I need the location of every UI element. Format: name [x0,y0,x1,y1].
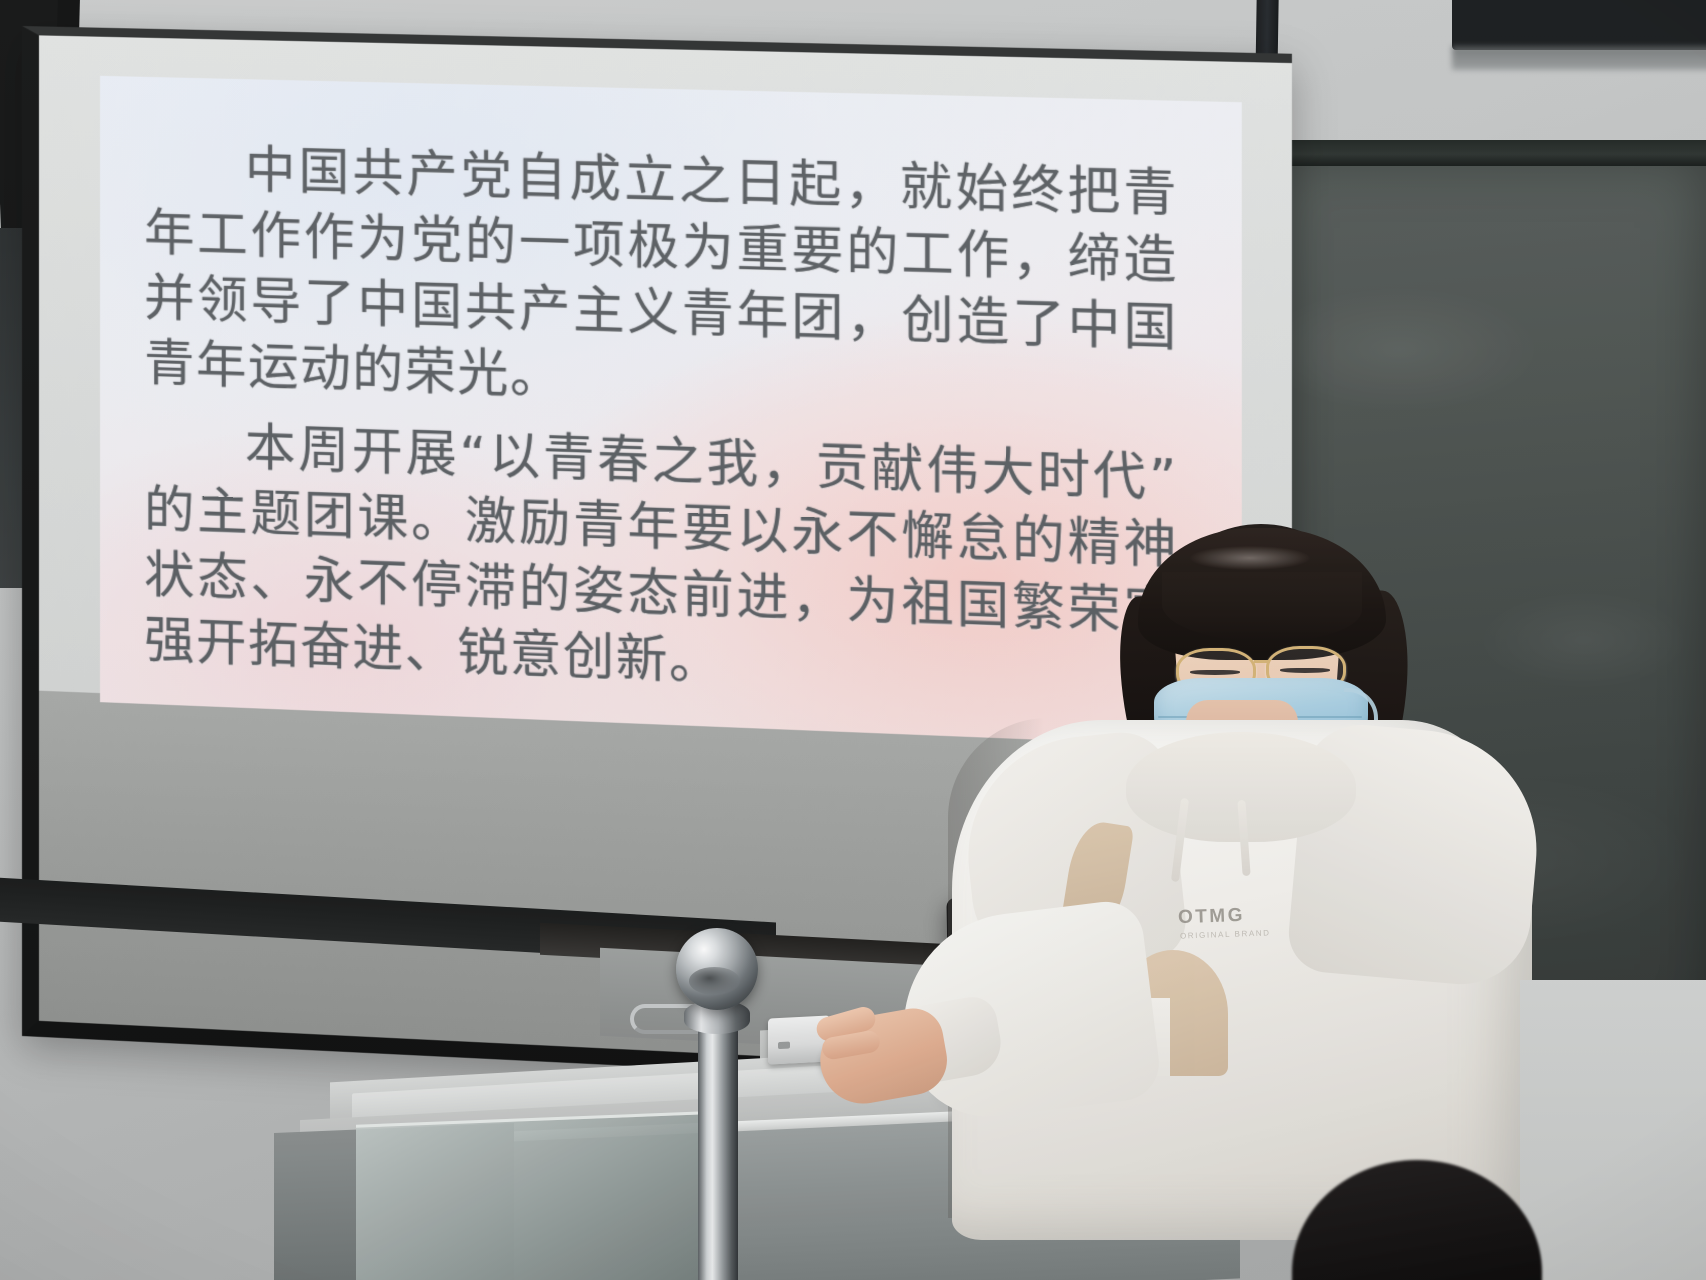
classroom-scene: 中国共产党自成立之日起，就始终把青年工作作为党的一项极为重要的工作，缔造并领导了… [0,0,1706,1280]
slide-paragraph-1: 中国共产党自成立之日起，就始终把青年工作作为党的一项极为重要的工作，缔造并领导了… [144,135,1178,429]
lectern-glass-panel [356,1111,706,1280]
right-wall-lower [1520,980,1706,1280]
stanchion-shaft [698,1022,738,1280]
eyeglasses-bridge [1254,660,1270,663]
stanchion-ball-top [676,928,758,1010]
presenter-person: OTMG ORIGINAL BRAND [940,520,1560,1220]
hair-highlight [1190,546,1310,570]
wall-panel-shadow [1452,46,1706,70]
chalkboard-top-rail [1262,140,1706,166]
hoodie-brand-logo: OTMG [1178,905,1246,929]
wall-mounted-dark-panel [1452,0,1706,50]
